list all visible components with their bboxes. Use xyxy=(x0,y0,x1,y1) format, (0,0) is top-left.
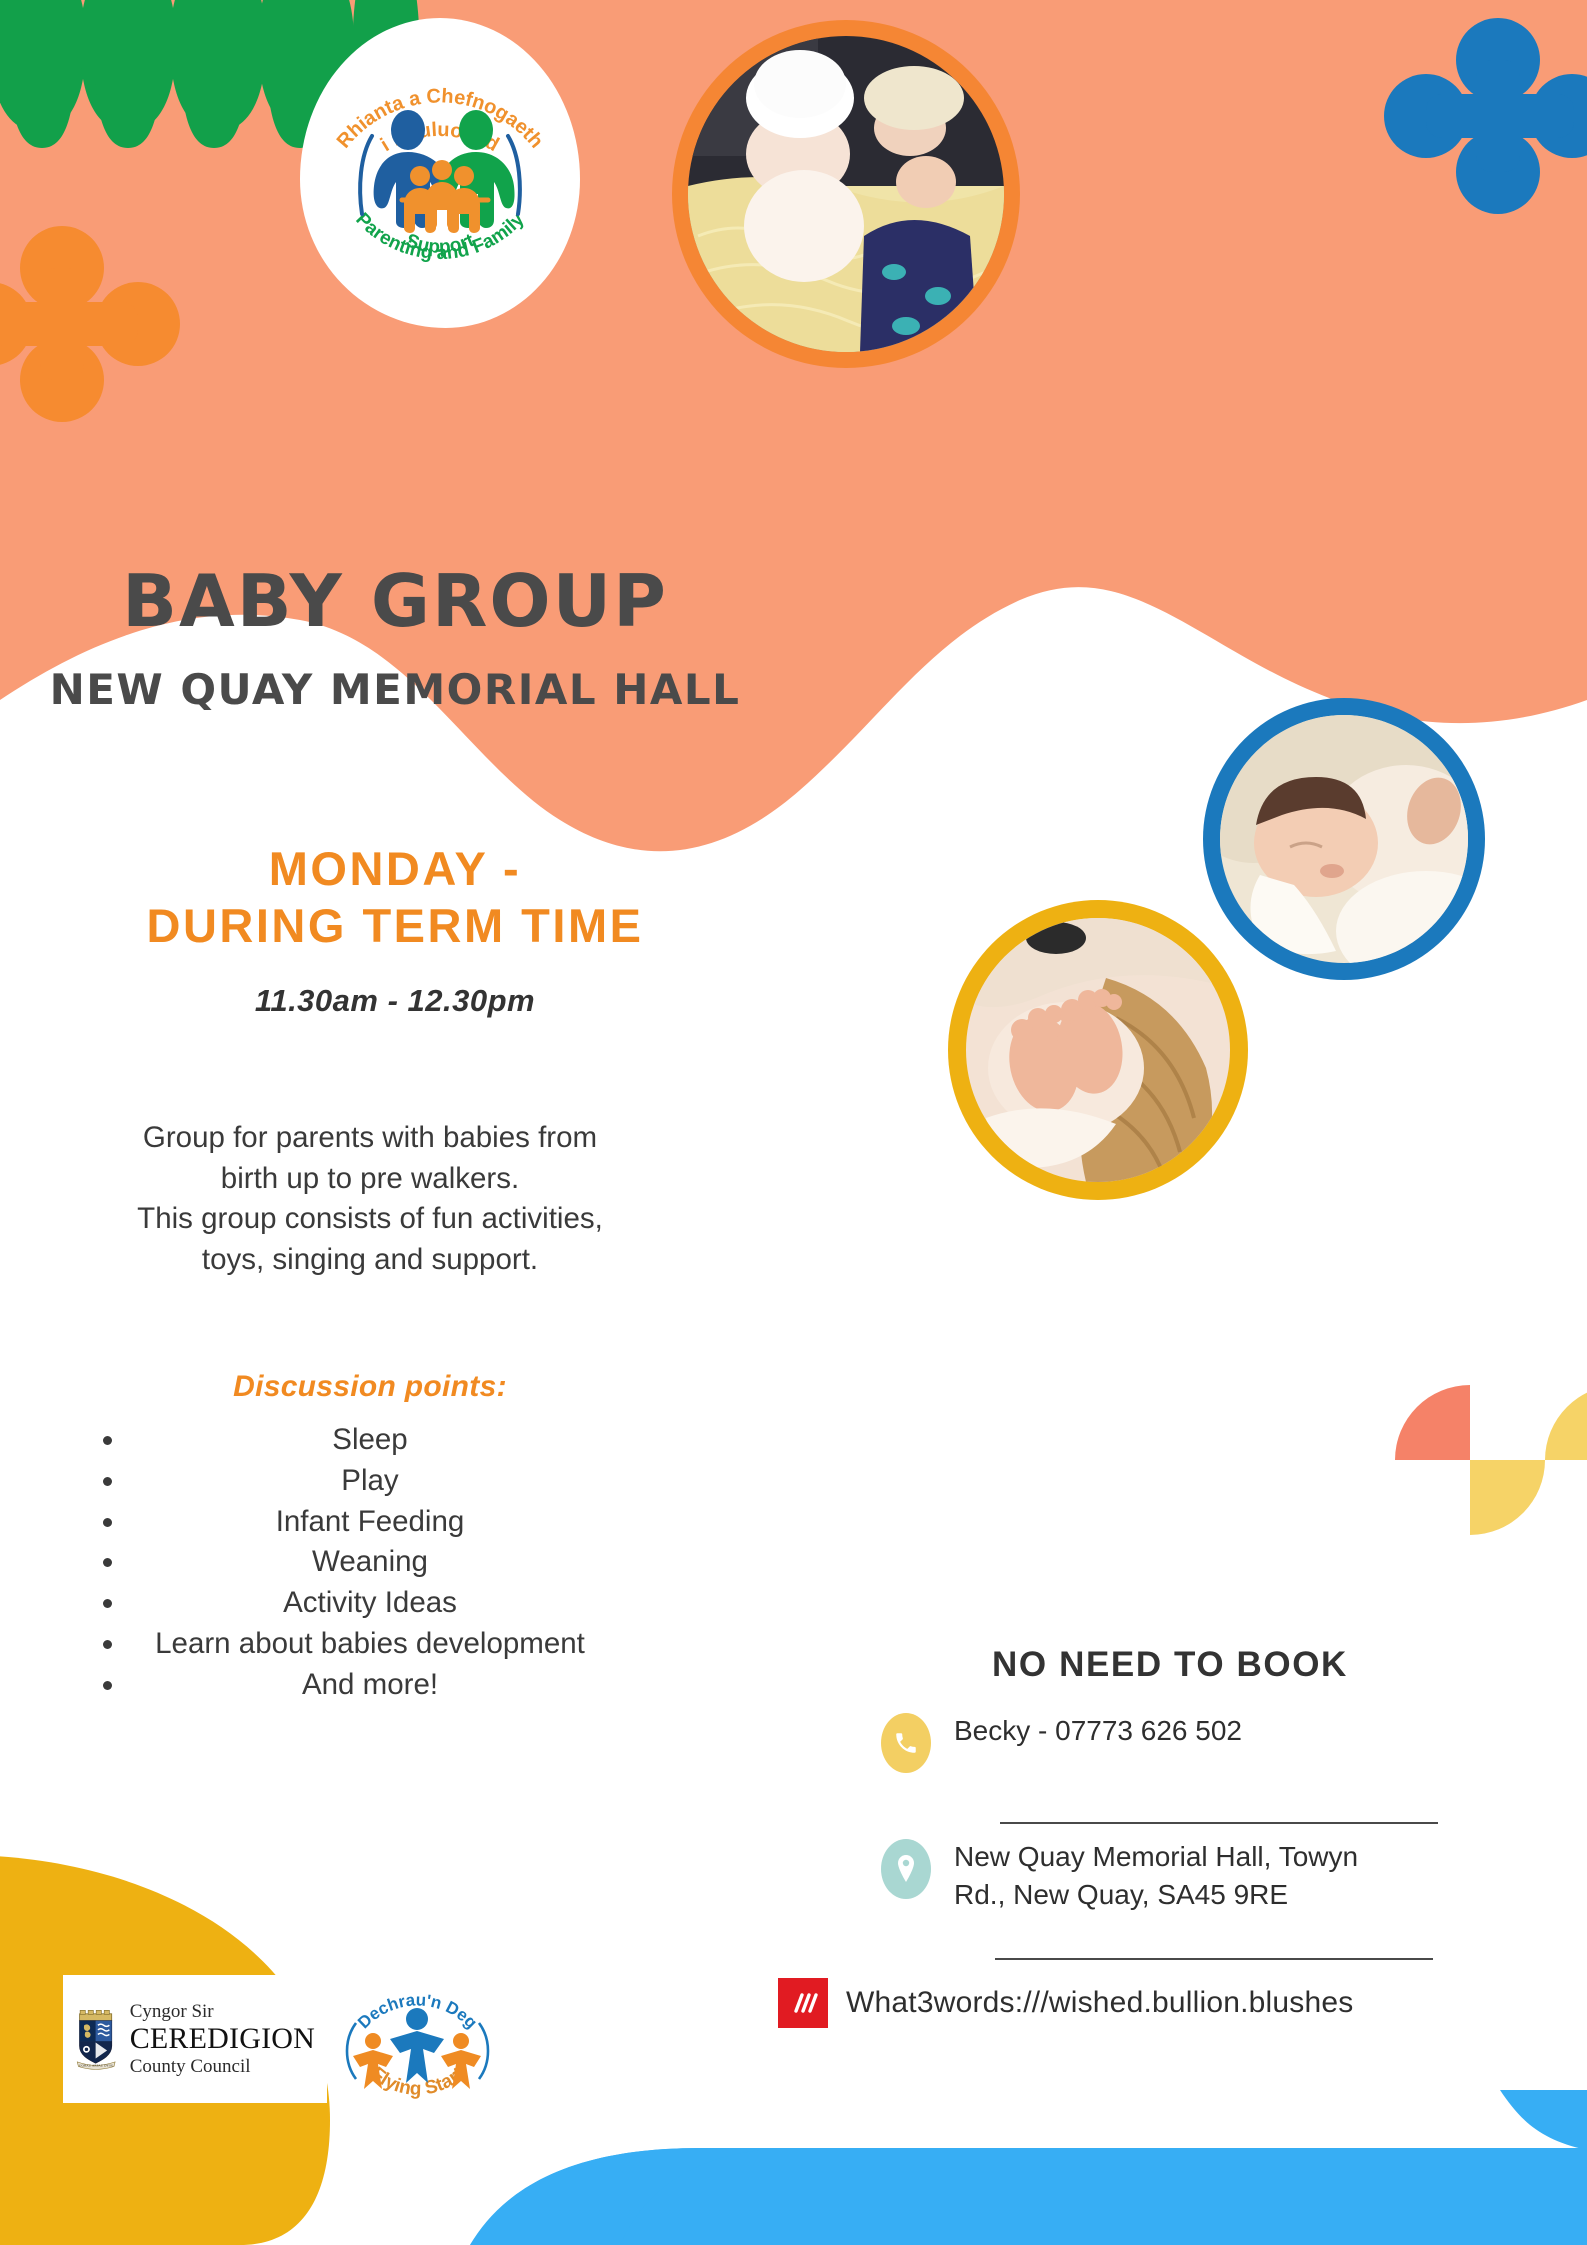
location-badge xyxy=(880,1838,932,1900)
contact-what3words-row: What3words:///wished.bullion.blushes xyxy=(778,1978,1538,2028)
list-item-label: Weaning xyxy=(312,1545,428,1578)
address-line: Rd., New Quay, SA45 9RE xyxy=(954,1876,1358,1914)
description-block: Group for parents with babies from birth… xyxy=(40,1118,700,1281)
list-item: Sleep xyxy=(40,1420,700,1461)
flying-start-logo: Dechrau'n Deg Flying Start xyxy=(330,1965,505,2125)
contact-phone-row: Becky - 07773 626 502 xyxy=(880,1712,1480,1774)
booking-notice: NO NEED TO BOOK xyxy=(900,1645,1440,1685)
address-line: New Quay Memorial Hall, Towyn xyxy=(954,1838,1358,1876)
address-text: New Quay Memorial Hall, Towyn Rd., New Q… xyxy=(954,1838,1358,1914)
ceredigion-line-2: CEREDIGION xyxy=(130,2022,315,2056)
what3words-text: What3words:///wished.bullion.blushes xyxy=(846,1986,1353,2020)
list-item-label: Sleep xyxy=(332,1423,407,1456)
page-title: BABY GROUP xyxy=(0,565,790,637)
blue-shape-bottom-right xyxy=(470,2148,1587,2245)
svg-text:GORAU ARFAU DYSG: GORAU ARFAU DYSG xyxy=(79,2064,114,2068)
schedule-day: MONDAY - xyxy=(0,840,790,897)
discussion-points-list: Sleep Play Infant Feeding Weaning Activi… xyxy=(40,1420,700,1706)
bullet-dot-icon xyxy=(103,1477,112,1486)
list-item-label: Learn about babies development xyxy=(155,1627,585,1660)
list-item-label: And more! xyxy=(302,1668,438,1701)
list-item: Weaning xyxy=(40,1542,700,1583)
phone-icon xyxy=(893,1730,919,1756)
list-item: Play xyxy=(40,1461,700,1502)
list-item-label: Activity Ideas xyxy=(283,1586,457,1619)
blue-shape-bottom-right-corner xyxy=(1500,2090,1587,2150)
parenting-support-logo: Rhianta a Chefnogaeth i Deuluoedd Parent… xyxy=(300,18,580,328)
discussion-points-heading: Discussion points: xyxy=(40,1370,700,1404)
title-block: BABY GROUP NEW QUAY MEMORIAL HALL xyxy=(0,565,790,714)
bullet-dot-icon xyxy=(103,1640,112,1649)
list-item-label: Infant Feeding xyxy=(276,1505,465,1538)
venue-subtitle: NEW QUAY MEMORIAL HALL xyxy=(0,665,790,714)
contact-address-row: New Quay Memorial Hall, Towyn Rd., New Q… xyxy=(880,1838,1500,1914)
location-pin-icon xyxy=(894,1854,918,1884)
what3words-icon xyxy=(778,1978,828,2028)
schedule-block: MONDAY - DURING TERM TIME 11.30am - 12.3… xyxy=(0,840,790,1019)
description-line: toys, singing and support. xyxy=(40,1240,700,1281)
schedule-term: DURING TERM TIME xyxy=(0,897,790,954)
schedule-time: 11.30am - 12.30pm xyxy=(0,983,790,1019)
list-item: And more! xyxy=(40,1665,700,1706)
ceredigion-line-1: Cyngor Sir xyxy=(130,2001,315,2022)
ceredigion-crest-icon: GORAU ARFAU DYSG xyxy=(75,1987,120,2091)
bullet-dot-icon xyxy=(103,1436,112,1445)
phone-badge xyxy=(880,1712,932,1774)
description-line: Group for parents with babies from xyxy=(40,1118,700,1159)
divider-line xyxy=(995,1958,1433,1960)
ceredigion-line-3: County Council xyxy=(130,2056,315,2077)
list-item-label: Play xyxy=(341,1464,398,1497)
quarter-circle-pattern xyxy=(1395,1385,1587,1535)
description-line: birth up to pre walkers. xyxy=(40,1159,700,1200)
photo-newborn xyxy=(1203,698,1485,980)
list-item: Activity Ideas xyxy=(40,1583,700,1624)
poster-root: Rhianta a Chefnogaeth i Deuluoedd Parent… xyxy=(0,0,1587,2245)
bullet-dot-icon xyxy=(103,1599,112,1608)
divider-line xyxy=(1000,1822,1438,1824)
description-line: This group consists of fun activities, xyxy=(40,1199,700,1240)
photo-babies-pasta xyxy=(672,20,1020,368)
ceredigion-logo-text: Cyngor Sir CEREDIGION County Council xyxy=(130,2001,315,2077)
bullet-dot-icon xyxy=(103,1518,112,1527)
list-item: Infant Feeding xyxy=(40,1502,700,1543)
bullet-dot-icon xyxy=(103,1681,112,1690)
logo-welsh-line-1: Rhianta a Chefnogaeth xyxy=(333,85,548,152)
bullet-dot-icon xyxy=(103,1558,112,1567)
ceredigion-council-logo: GORAU ARFAU DYSG Cyngor Sir CEREDIGION C… xyxy=(63,1975,327,2103)
photo-baby-feet xyxy=(948,900,1248,1200)
list-item: Learn about babies development xyxy=(40,1624,700,1665)
phone-text: Becky - 07773 626 502 xyxy=(954,1712,1242,1750)
